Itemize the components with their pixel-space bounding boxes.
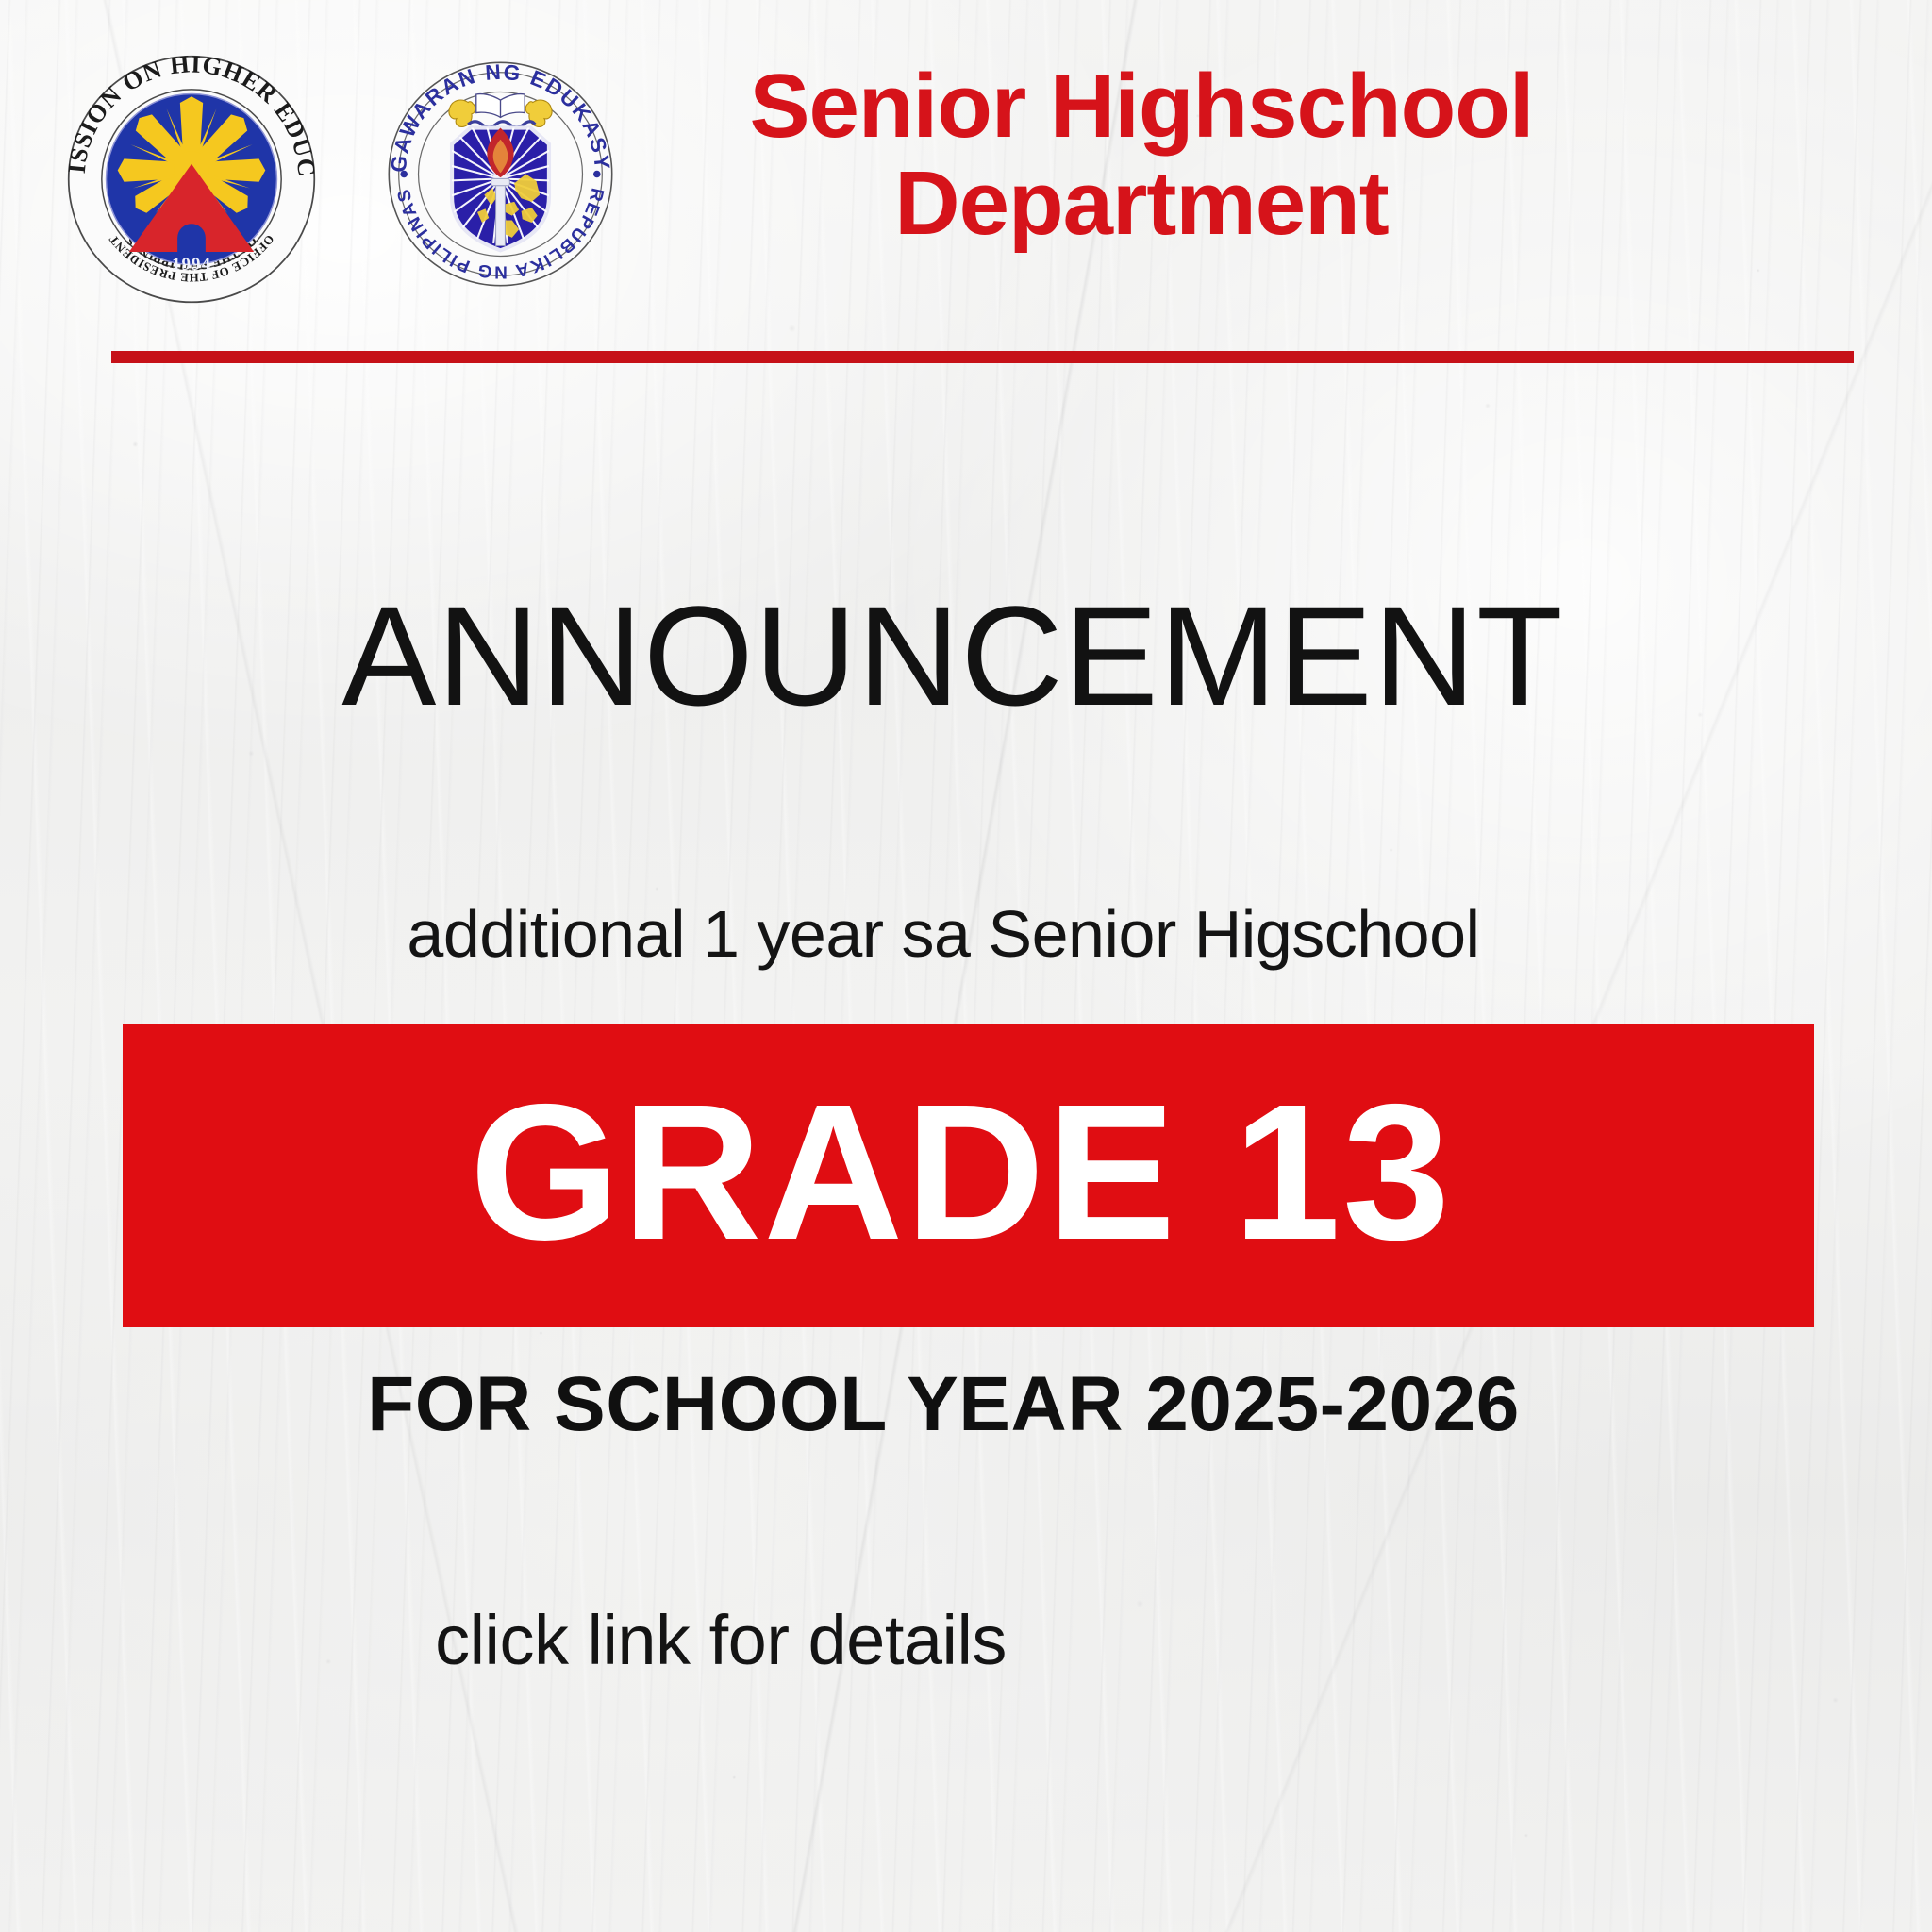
announcement-subtitle: additional 1 year sa Senior Higschool — [0, 901, 1909, 967]
poster-header: COMMISSION ON HIGHER EDUCATION OFFICE OF… — [0, 0, 1932, 351]
grade-banner-label: GRADE 13 — [115, 1020, 1807, 1324]
ched-seal-logo: COMMISSION ON HIGHER EDUCATION OFFICE OF… — [64, 52, 319, 307]
announcement-poster: COMMISSION ON HIGHER EDUCATION OFFICE OF… — [0, 0, 1932, 1932]
page-title: ANNOUNCEMENT — [0, 585, 1919, 726]
header-title: Senior Highschool Department — [651, 58, 1632, 252]
school-year-label: FOR SCHOOL YEAR 2025-2026 — [0, 1366, 1909, 1443]
click-link-cta[interactable]: click link for details — [0, 1606, 1687, 1675]
grade-banner: GRADE 13 — [123, 1024, 1814, 1327]
svg-text:1994: 1994 — [172, 255, 211, 275]
deped-seal-logo: KAGAWARAN NG EDUKASYON REPUBLIKA NG PILI… — [385, 58, 616, 290]
header-divider — [111, 351, 1854, 363]
